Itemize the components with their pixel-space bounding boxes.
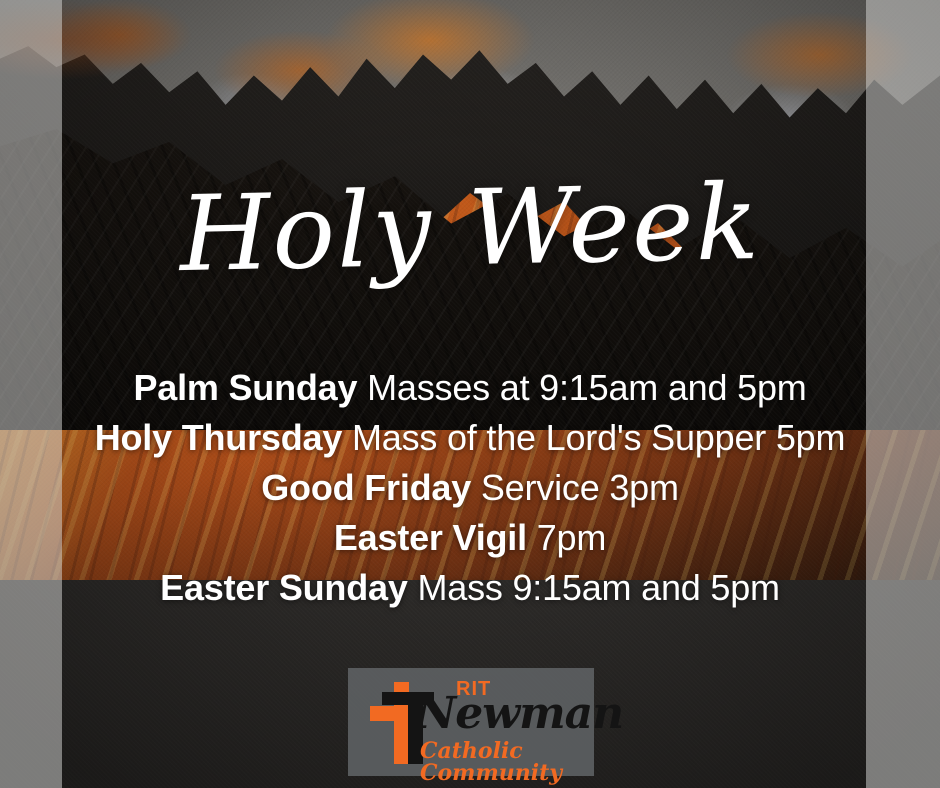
schedule-detail: 7pm — [537, 517, 606, 558]
schedule-detail: Mass of the Lord's Supper 5pm — [352, 417, 845, 458]
schedule-row: Easter Sunday Mass 9:15am and 5pm — [0, 563, 940, 613]
schedule-day: Holy Thursday — [95, 417, 352, 458]
schedule-detail: Mass 9:15am and 5pm — [417, 567, 779, 608]
schedule-list: Palm Sunday Masses at 9:15am and 5pm Hol… — [0, 363, 940, 613]
schedule-day: Easter Sunday — [160, 567, 417, 608]
logo-tagline-text: Catholic Community — [420, 740, 594, 784]
holy-week-poster: Holy Week Palm Sunday Masses at 9:15am a… — [0, 0, 940, 788]
schedule-day: Good Friday — [261, 467, 481, 508]
schedule-day: Palm Sunday — [133, 367, 367, 408]
logo-name-text: Newman — [416, 692, 623, 736]
newman-logo: RIT Newman Catholic Community — [348, 668, 594, 776]
schedule-detail: Masses at 9:15am and 5pm — [367, 367, 806, 408]
schedule-row: Good Friday Service 3pm — [0, 463, 940, 513]
page-title: Holy Week — [0, 166, 940, 290]
schedule-day: Easter Vigil — [334, 517, 537, 558]
schedule-row: Holy Thursday Mass of the Lord's Supper … — [0, 413, 940, 463]
schedule-row: Palm Sunday Masses at 9:15am and 5pm — [0, 363, 940, 413]
schedule-row: Easter Vigil 7pm — [0, 513, 940, 563]
schedule-detail: Service 3pm — [481, 467, 679, 508]
